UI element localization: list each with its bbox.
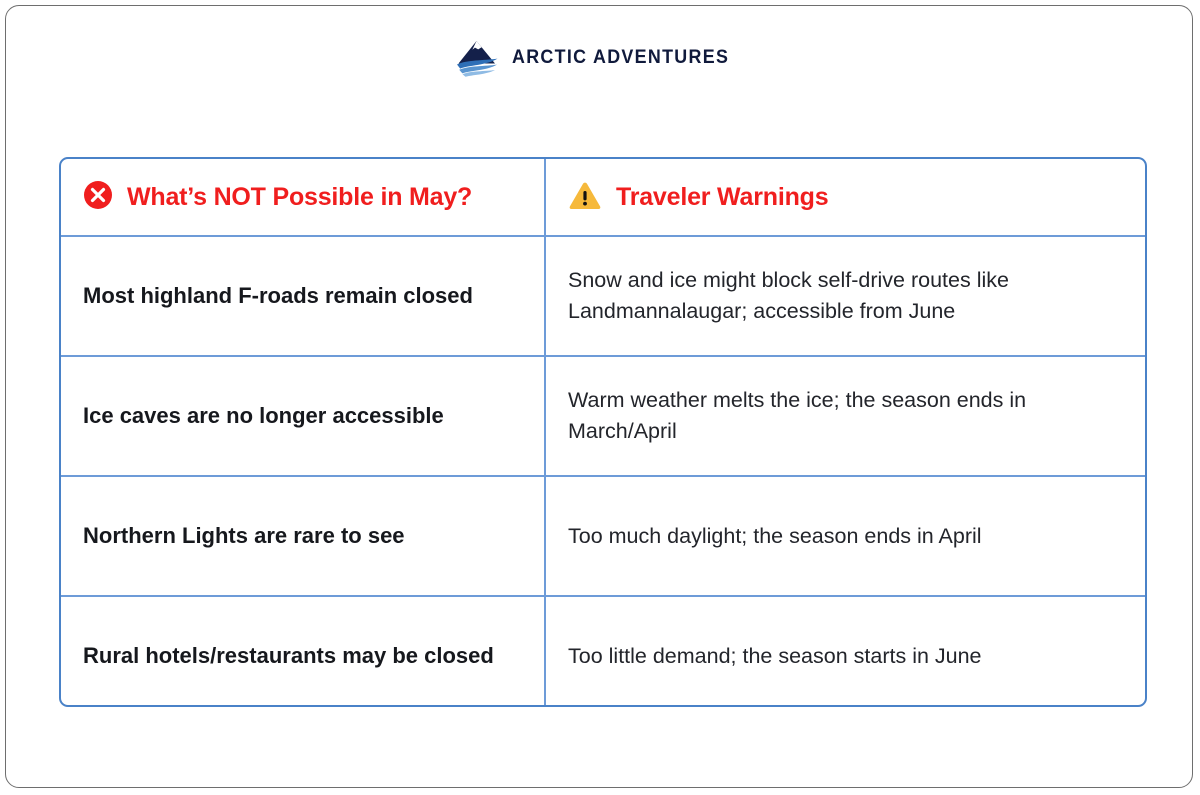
row-warning-text: Warm weather melts the ice; the season e… [568,385,1125,446]
row-warning-cell: Too little demand; the season starts in … [546,597,1145,707]
mountain-wave-icon [454,38,502,78]
warning-triangle-icon [568,180,602,215]
page-frame: ARCTIC ADVENTURES What’s NOT Possible in… [5,5,1193,788]
header-cell-traveler-warnings: Traveler Warnings [546,159,1145,235]
table-row: Ice caves are no longer accessible Warm … [61,357,1145,477]
header-cell-not-possible: What’s NOT Possible in May? [61,159,546,235]
circle-x-icon [83,180,113,215]
row-warning-cell: Warm weather melts the ice; the season e… [546,357,1145,475]
header-label-not-possible: What’s NOT Possible in May? [127,183,472,212]
row-item-text: Ice caves are no longer accessible [83,401,444,431]
row-warning-text: Too much daylight; the season ends in Ap… [568,521,982,552]
row-item-cell: Northern Lights are rare to see [61,477,546,595]
header-label-traveler-warnings: Traveler Warnings [616,183,828,212]
row-warning-text: Snow and ice might block self-drive rout… [568,265,1125,326]
row-warning-text: Too little demand; the season starts in … [568,641,982,672]
row-warning-cell: Snow and ice might block self-drive rout… [546,237,1145,355]
row-warning-cell: Too much daylight; the season ends in Ap… [546,477,1145,595]
row-item-text: Northern Lights are rare to see [83,521,405,551]
row-item-cell: Ice caves are no longer accessible [61,357,546,475]
row-item-cell: Rural hotels/restaurants may be closed [61,597,546,707]
row-item-cell: Most highland F-roads remain closed [61,237,546,355]
row-item-text: Most highland F-roads remain closed [83,281,473,311]
table-row: Northern Lights are rare to see Too much… [61,477,1145,597]
table-row: Rural hotels/restaurants may be closed T… [61,597,1145,707]
row-item-text: Rural hotels/restaurants may be closed [83,641,494,671]
table-header-row: What’s NOT Possible in May? Traveler War… [61,159,1145,237]
brand-wordmark: ARCTIC ADVENTURES [512,47,729,69]
brand-header: ARCTIC ADVENTURES [6,38,1192,78]
table-row: Most highland F-roads remain closed Snow… [61,237,1145,357]
comparison-table: What’s NOT Possible in May? Traveler War… [59,157,1147,707]
